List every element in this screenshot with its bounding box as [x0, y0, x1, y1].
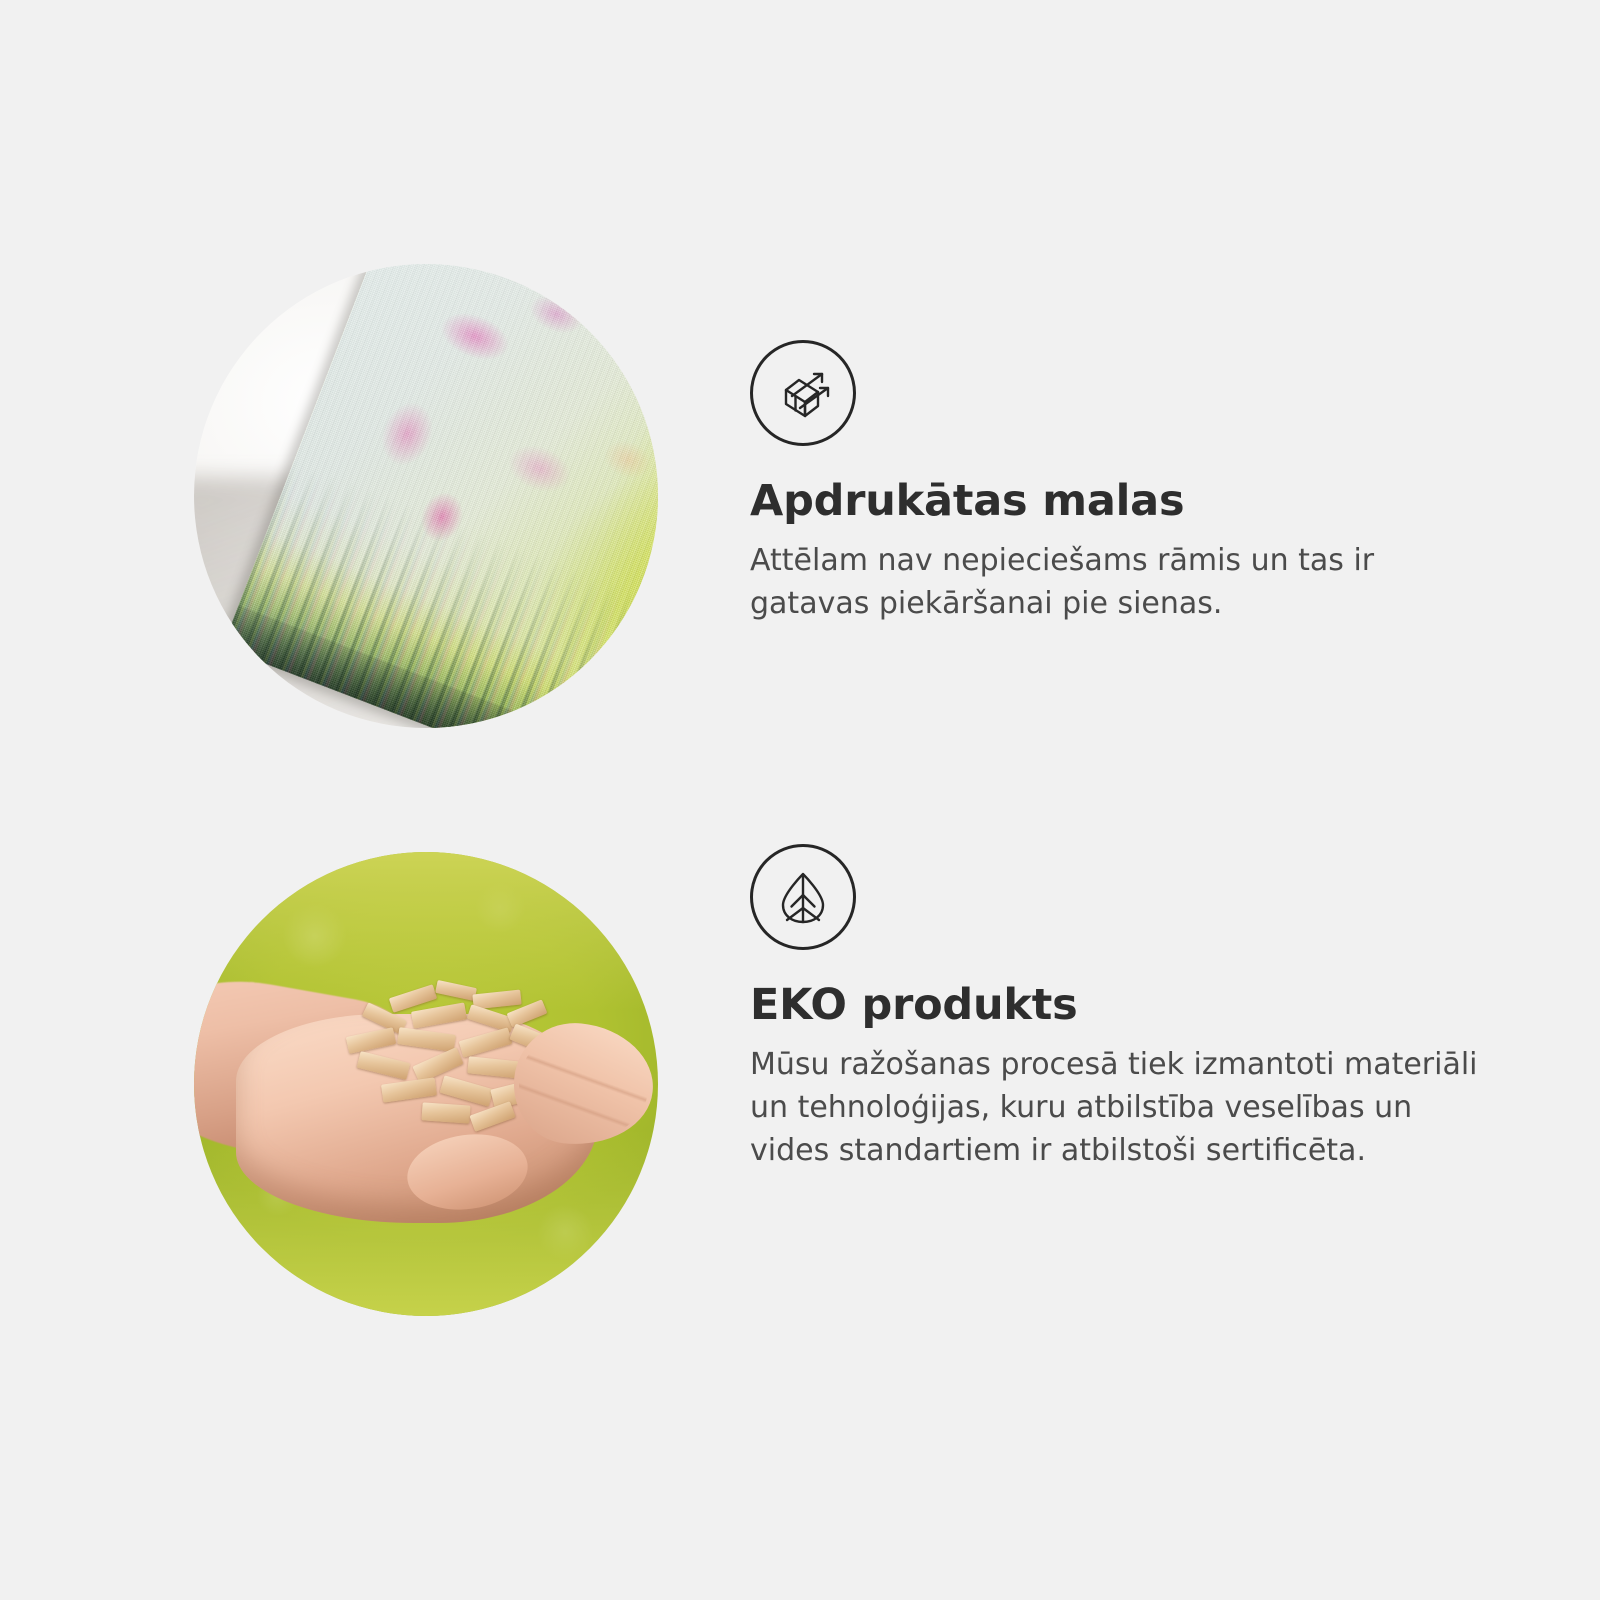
hand-holding-wood-chips-photo [194, 852, 658, 1316]
printed-edges-icon [750, 340, 856, 446]
printed-edges-media [194, 264, 658, 728]
eco-product-media [194, 852, 658, 1316]
feature-printed-edges: Apdrukātas malas Attēlam nav nepieciešam… [0, 240, 1600, 760]
feature-eco-product: EKO produkts Mūsu ražošanas procesā tiek… [0, 828, 1600, 1348]
feature-description: Mūsu ražošanas procesā tiek izmantoti ma… [750, 1044, 1495, 1172]
feature-title: EKO produkts [750, 982, 1510, 1028]
leaf-icon [750, 844, 856, 950]
feature-list-page: Apdrukātas malas Attēlam nav nepieciešam… [0, 0, 1600, 1600]
feature-title: Apdrukātas malas [750, 478, 1510, 524]
feature-description: Attēlam nav nepieciešams rāmis un tas ir… [750, 540, 1495, 625]
eco-product-text-block: EKO produkts Mūsu ražošanas procesā tiek… [750, 844, 1510, 1172]
finger-separations [519, 1028, 649, 1139]
printed-edges-text-block: Apdrukātas malas Attēlam nav nepieciešam… [750, 340, 1510, 626]
canvas-print-wrapped-edge-photo [194, 264, 658, 728]
